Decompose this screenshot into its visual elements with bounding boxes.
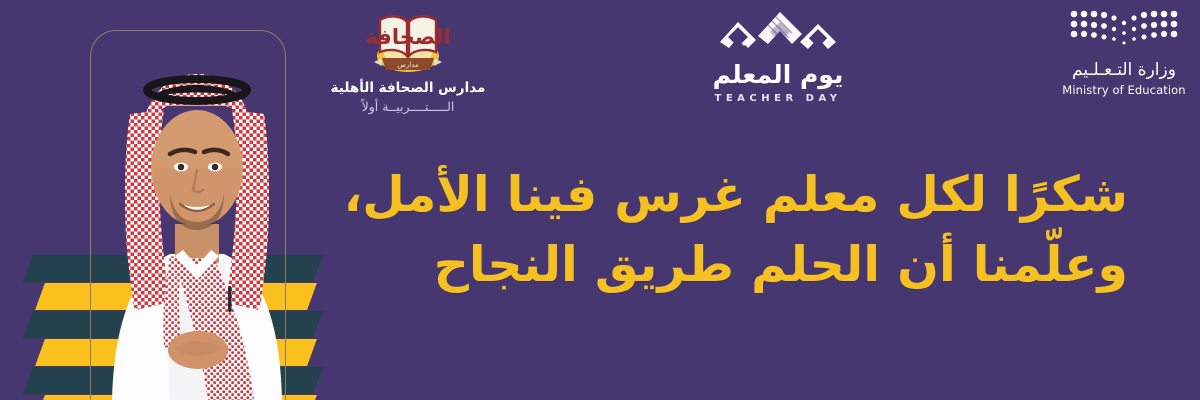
teacher-day-emblem-icon — [718, 8, 838, 54]
headline-line-2: وعلّمنا أن الحلم طريق النجاح — [388, 230, 1128, 300]
sahafa-ribbon-word: مدارس — [397, 61, 419, 69]
logo-ministry-of-education: وزارة التـعـلـيم Ministry of Education — [1048, 6, 1200, 97]
portrait-frame — [90, 30, 286, 400]
ministry-title-en: Ministry of Education — [1048, 83, 1200, 97]
sahafa-emblem-icon: الصحافة مدارس — [360, 4, 456, 78]
sahafa-tagline: الـــــتــــربيــة أولاً — [318, 99, 498, 114]
ministry-title-ar: وزارة التـعـلـيم — [1048, 60, 1200, 80]
teacher-day-title-ar: يوم المعلم — [688, 60, 868, 89]
sahafa-school-name: مدارس الصحافة الأهلية — [318, 80, 498, 96]
logo-sahafa-schools: الصحافة مدارس مدارس الصحافة الأهلية الــ… — [318, 4, 498, 114]
logo-teacher-day: يوم المعلم TEACHER DAY — [688, 8, 868, 104]
headline: شكرًا لكل معلم غرس فينا الأمل، وعلّمنا أ… — [388, 160, 1128, 299]
teacher-day-banner: الصحافة مدارس مدارس الصحافة الأهلية الــ… — [0, 0, 1200, 400]
ministry-dots-emblem-icon — [1066, 6, 1182, 52]
teacher-day-title-en: TEACHER DAY — [688, 93, 868, 104]
sahafa-emblem-word: الصحافة — [365, 25, 450, 49]
headline-line-1: شكرًا لكل معلم غرس فينا الأمل، — [388, 160, 1128, 230]
